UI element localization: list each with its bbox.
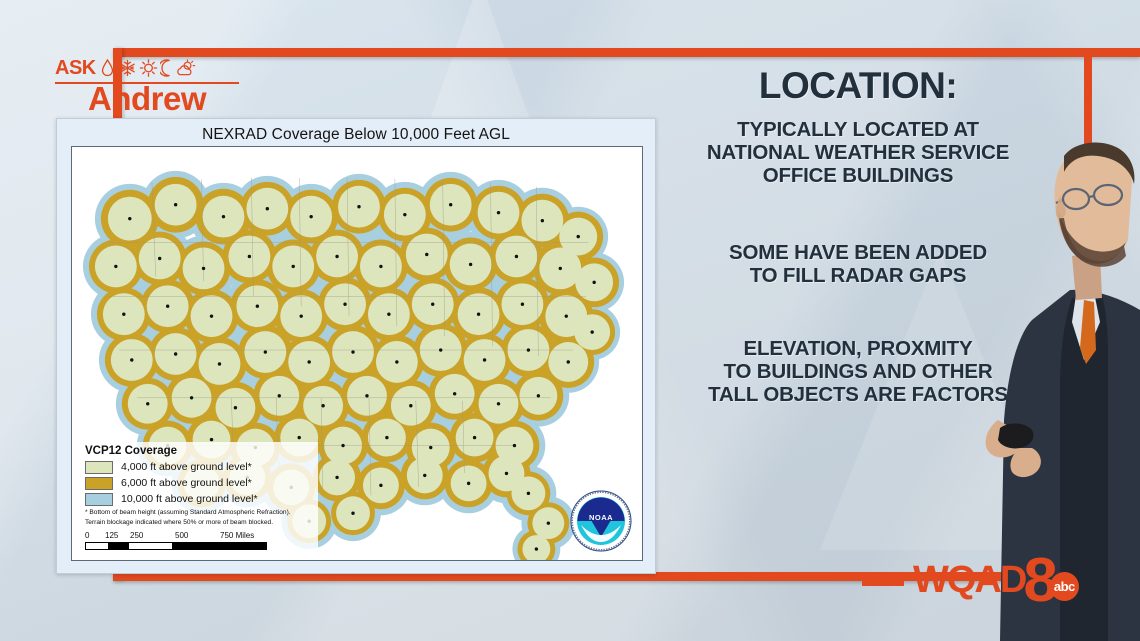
map-title: NEXRAD Coverage Below 10,000 Feet AGL bbox=[57, 119, 655, 144]
frame-border-top bbox=[113, 48, 1140, 57]
legend-swatch-6000 bbox=[85, 477, 113, 490]
nexrad-map-panel: NEXRAD Coverage Below 10,000 Feet AGL bbox=[56, 118, 656, 574]
scale-bar bbox=[85, 542, 267, 550]
noaa-seal-icon: NOAA bbox=[570, 490, 632, 552]
legend-item-4000: 4,000 ft above ground level* bbox=[85, 461, 314, 474]
map-legend: VCP12 Coverage 4,000 ft above ground lev… bbox=[80, 442, 318, 554]
ask-andrew-logo: ASK bbox=[55, 55, 255, 113]
scale-tick-250: 250 bbox=[130, 531, 143, 540]
scale-tick-125: 125 bbox=[105, 531, 118, 540]
ask-label: ASK bbox=[55, 58, 96, 78]
legend-label-6000: 6,000 ft above ground level* bbox=[121, 477, 252, 489]
scale-tick-500: 500 bbox=[175, 531, 188, 540]
svg-text:NOAA: NOAA bbox=[589, 513, 613, 522]
ask-logo-row: ASK bbox=[55, 55, 255, 81]
legend-item-10000: 10,000 ft above ground level* bbox=[85, 493, 314, 506]
andrew-label: Andrew bbox=[55, 82, 239, 116]
legend-swatch-4000 bbox=[85, 461, 113, 474]
scale-tick-750: 750 Miles bbox=[220, 531, 254, 540]
map-viewport: VCP12 Coverage 4,000 ft above ground lev… bbox=[71, 146, 643, 561]
legend-title: VCP12 Coverage bbox=[85, 445, 314, 457]
broadcast-graphic-stage: ASK bbox=[0, 0, 1140, 641]
scale-bar-labels: 0 125 250 500 750 Miles bbox=[85, 531, 267, 542]
station-callsign: WQAD bbox=[913, 561, 1025, 599]
legend-note-line1: * Bottom of beam height (assuming Standa… bbox=[85, 509, 314, 518]
station-logo-dash bbox=[862, 577, 904, 586]
scale-tick-0: 0 bbox=[85, 531, 89, 540]
moon-icon bbox=[160, 58, 175, 78]
snowflake-icon bbox=[118, 58, 137, 78]
sun-behind-cloud-icon bbox=[177, 58, 197, 78]
legend-label-10000: 10,000 ft above ground level* bbox=[121, 493, 258, 505]
sun-icon bbox=[139, 58, 158, 78]
raindrop-icon bbox=[99, 58, 116, 78]
legend-item-6000: 6,000 ft above ground level* bbox=[85, 477, 314, 490]
legend-note-line2: Terrain blockage indicated where 50% or … bbox=[85, 519, 314, 528]
weather-icon-strip bbox=[99, 58, 197, 78]
legend-label-4000: 4,000 ft above ground level* bbox=[121, 461, 252, 473]
network-badge: abc bbox=[1050, 572, 1079, 601]
legend-swatch-10000 bbox=[85, 493, 113, 506]
station-logo: WQAD 8 abc bbox=[862, 556, 1079, 604]
